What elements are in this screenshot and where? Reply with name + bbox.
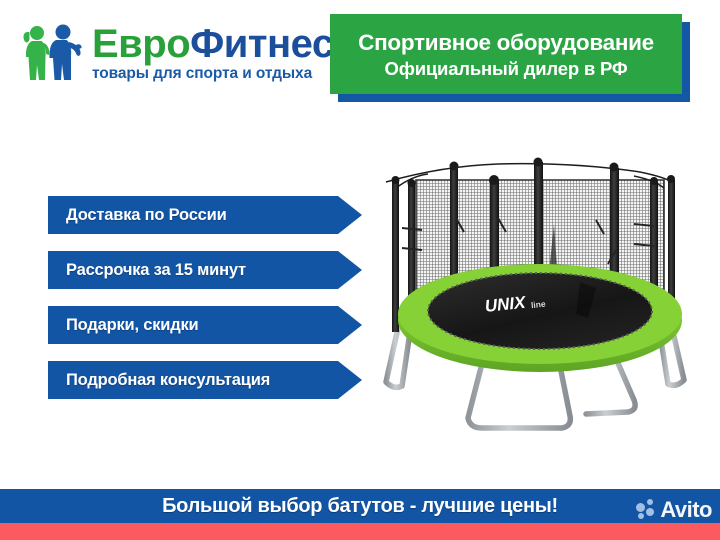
headline-banner: Спортивное оборудование Официальный диле… [330, 14, 682, 94]
logo-figures [18, 22, 88, 84]
advertisement-banner: ЕвроФитнес товары для спорта и отдыха Сп… [0, 0, 720, 540]
feature-label: Подробная консультация [66, 361, 270, 399]
feature-list: Доставка по России Рассрочка за 15 минут… [48, 196, 368, 416]
avito-dots-icon [636, 499, 658, 521]
logo-tagline: товары для спорта и отдыха [92, 65, 334, 82]
brand-name-part-blue: Фитнес [190, 22, 333, 66]
feature-item-consultation: Подробная консультация [48, 361, 368, 399]
logo-wordmark: ЕвроФитнес товары для спорта и отдыха [92, 24, 334, 82]
feature-label: Доставка по России [66, 196, 227, 234]
bottom-red-strip [0, 523, 720, 540]
feature-label: Рассрочка за 15 минут [66, 251, 246, 289]
brand-name-part-green: Евро [92, 22, 190, 66]
bottom-banner-text: Большой выбор батутов - лучшие цены! [162, 495, 558, 518]
product-image-trampoline: UNIX line [372, 132, 708, 462]
bottom-banner: Большой выбор батутов - лучшие цены! [0, 489, 720, 523]
avito-wordmark: Avito [660, 499, 712, 521]
feature-item-gifts: Подарки, скидки [48, 306, 368, 344]
headline-secondary: Официальный дилер в РФ [385, 57, 628, 80]
headline-primary: Спортивное оборудование [358, 29, 654, 56]
feature-item-delivery: Доставка по России [48, 196, 368, 234]
brand-name: ЕвроФитнес [92, 24, 334, 64]
male-athlete-icon [49, 25, 81, 81]
female-athlete-icon [23, 26, 49, 80]
feature-item-installment: Рассрочка за 15 минут [48, 251, 368, 289]
feature-label: Подарки, скидки [66, 306, 198, 344]
brand-mark-suffix: line [530, 299, 546, 311]
avito-watermark: Avito [636, 497, 712, 523]
company-logo: ЕвроФитнес товары для спорта и отдыха [18, 18, 330, 88]
